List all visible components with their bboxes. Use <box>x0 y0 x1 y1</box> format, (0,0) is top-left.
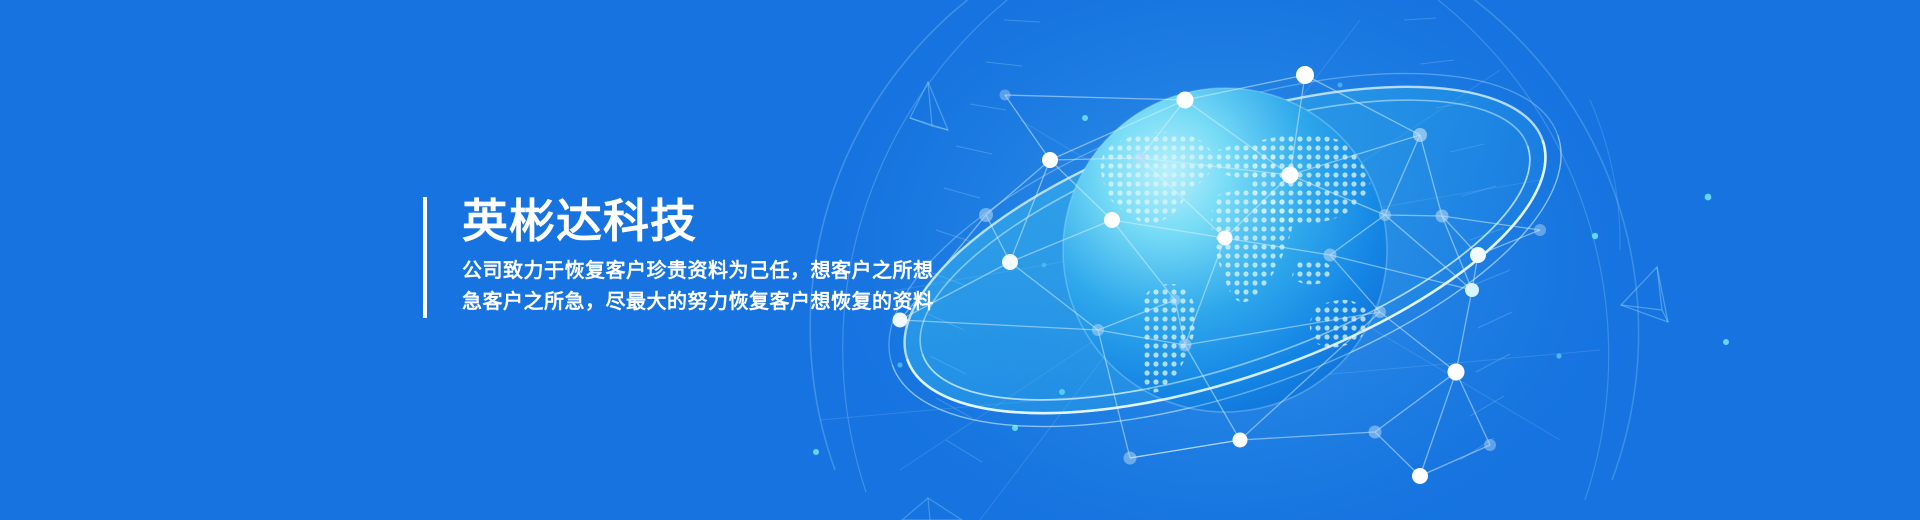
hero-text-block: 英彬达科技 公司致力于恢复客户珍贵资料为己任，想客户之所想 急客户之所急，尽最大… <box>423 197 934 318</box>
orbit-ring-front-icon <box>892 135 1604 498</box>
sparkle-dots <box>813 83 1729 456</box>
hero-subtitle: 公司致力于恢复客户珍贵资料为己任，想客户之所想 急客户之所急，尽最大的努力恢复客… <box>462 256 934 318</box>
network-edges <box>900 75 1540 476</box>
hero-subtitle-line-1: 公司致力于恢复客户珍贵资料为己任，想客户之所想 <box>462 256 934 287</box>
hero-subtitle-line-2: 急客户之所急，尽最大的努力恢复客户想恢复的资料 <box>462 287 934 318</box>
orbit-ring-icon <box>846 1 1604 499</box>
ticked-arc-right-icon <box>1396 0 1639 500</box>
globe-network-icon <box>1063 88 1387 412</box>
wireframe-triangle-bottom-icon <box>902 498 962 520</box>
hero-copy: 英彬达科技 公司致力于恢复客户珍贵资料为己任，想客户之所想 急客户之所急，尽最大… <box>462 197 934 318</box>
page-title: 英彬达科技 <box>462 197 934 247</box>
hero-banner: 英彬达科技 公司致力于恢复客户珍贵资料为己任，想客户之所想 急客户之所急，尽最大… <box>0 0 1920 520</box>
guide-lines <box>820 20 1600 520</box>
wireframe-triangle-left-icon <box>910 82 948 130</box>
wireframe-triangle-right-icon <box>1621 267 1668 322</box>
vertical-accent-bar <box>423 197 427 318</box>
network-nodes <box>893 66 1547 484</box>
globe-continents <box>1101 132 1371 393</box>
background-artwork <box>0 0 1920 520</box>
